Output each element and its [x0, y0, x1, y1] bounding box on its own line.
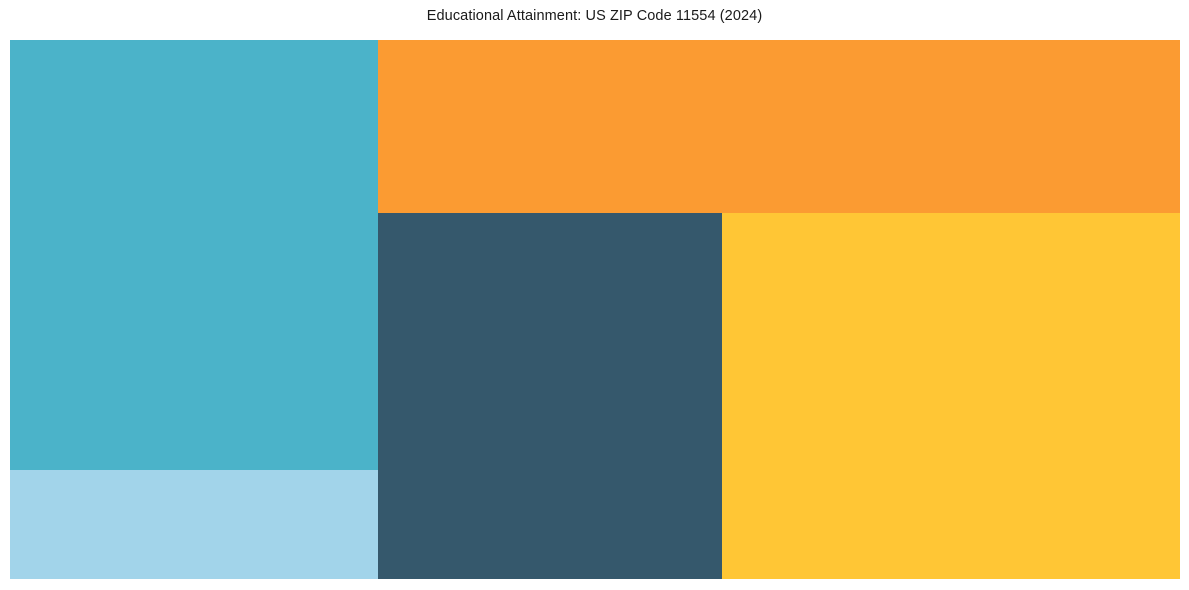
treemap-tile[interactable]: Bachelor's degree — [722, 213, 1180, 579]
treemap-tile[interactable]: Less than high school diploma — [10, 470, 378, 579]
treemap-plot-area: Some college or associate degree High sc… — [10, 40, 1180, 579]
treemap-tile[interactable]: High school graduate (or equivalent) — [378, 40, 1180, 213]
chart-title: Educational Attainment: US ZIP Code 1155… — [0, 7, 1189, 25]
treemap-figure: Educational Attainment: US ZIP Code 1155… — [0, 0, 1189, 590]
treemap-tile[interactable]: Some college or associate degree — [10, 40, 378, 470]
treemap-tile[interactable]: Graduate or professional degree — [378, 213, 722, 579]
